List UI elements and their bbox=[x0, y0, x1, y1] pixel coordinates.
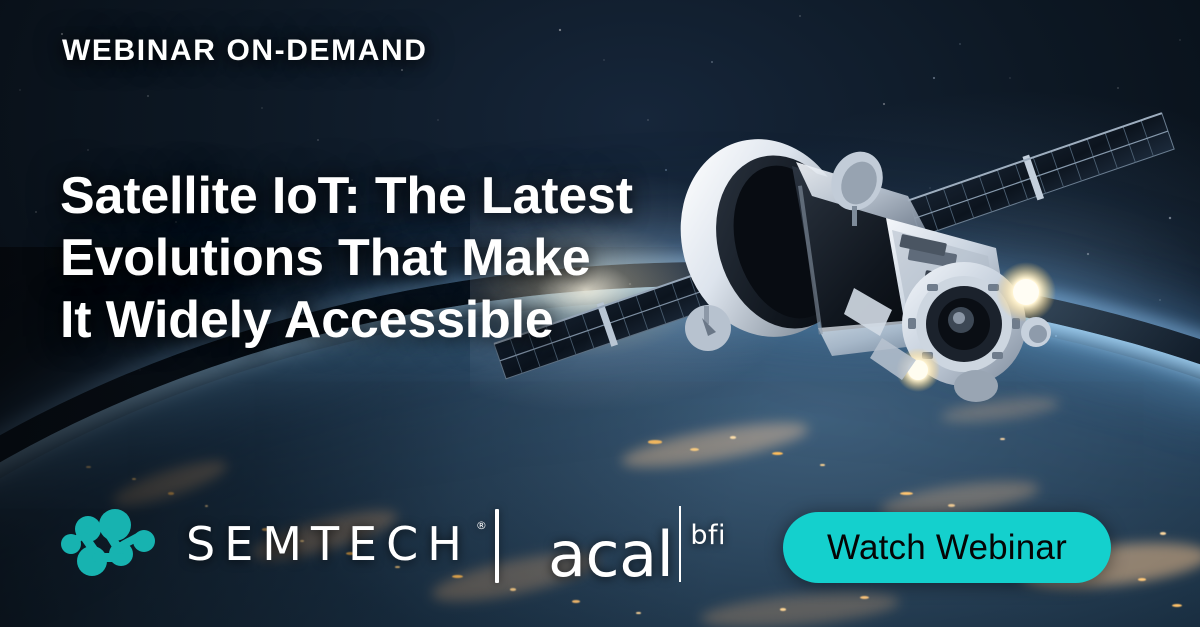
headline-line-1: Satellite IoT: The Latest bbox=[60, 165, 633, 227]
acal-inner-rule bbox=[679, 506, 681, 582]
page-title: Satellite IoT: The Latest Evolutions Tha… bbox=[60, 165, 633, 351]
semtech-logo[interactable]: SEMTECH ® bbox=[58, 508, 471, 580]
logo-divider bbox=[495, 509, 499, 583]
acal-bfi-logo[interactable]: acal bfi bbox=[548, 506, 726, 584]
semtech-molecule-icon bbox=[58, 509, 176, 579]
eyebrow-label: WEBINAR ON-DEMAND bbox=[62, 34, 428, 68]
semtech-wordmark: SEMTECH ® bbox=[186, 517, 471, 571]
headline-line-3: It Widely Accessible bbox=[60, 289, 633, 351]
acal-bfi-suffix: bfi bbox=[690, 520, 726, 551]
satellite-body bbox=[658, 119, 1056, 402]
acal-wordmark: acal bbox=[548, 526, 673, 584]
semtech-wordmark-text: SEMTECH bbox=[186, 517, 471, 571]
solar-panel-right bbox=[907, 109, 1175, 240]
webinar-promo-banner: WEBINAR ON-DEMAND Satellite IoT: The Lat… bbox=[0, 0, 1200, 627]
watch-webinar-button[interactable]: Watch Webinar bbox=[783, 512, 1111, 583]
semtech-trademark-symbol: ® bbox=[476, 519, 487, 532]
headline-line-2: Evolutions That Make bbox=[60, 227, 633, 289]
